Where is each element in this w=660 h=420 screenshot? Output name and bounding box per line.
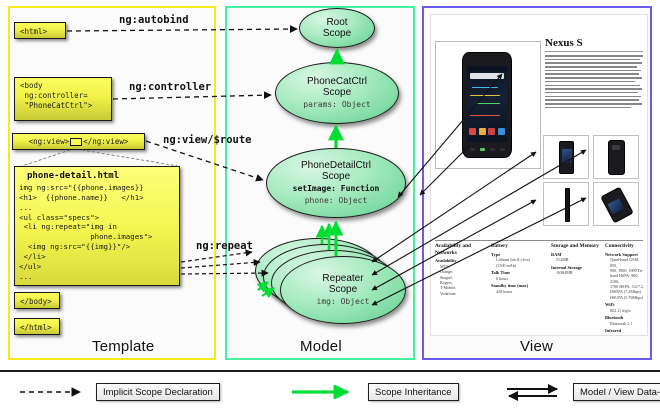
scope-rep-line1: Repeater [322, 273, 363, 284]
code-box-phone-detail: phone-detail.html img ng:src="{{phone.im… [14, 166, 180, 286]
legend-label-implicit-scope: Implicit Scope Declaration [96, 383, 220, 401]
legend-divider [0, 370, 660, 372]
code-box-body-close: </body> [14, 292, 60, 309]
spec-value: Quad-band GSM: 850, [605, 257, 647, 268]
scope-root-line2: Scope [323, 28, 351, 39]
thumb-screen [562, 149, 572, 163]
view-rendered-page: Nexus S [430, 14, 648, 336]
spec-header: Battery [491, 243, 547, 250]
thumb-camera [612, 145, 620, 150]
spec-value: HSUPA (5.76Mbps) [605, 295, 647, 300]
spec-value: (1500 mAh) [491, 263, 547, 268]
diagram-canvas: <html> <body ng:controller= "PhoneCatCtr… [0, 0, 660, 420]
spec-value: Bluetooth 2.1 [605, 321, 647, 326]
spec-column-connectivity: Connectivity Network Support Quad-band G… [605, 243, 647, 336]
spec-column-battery: Battery Type Lithium Ion (Li-Ion) (1500 … [491, 243, 547, 294]
scope-detail-member-phone: phone: Object [305, 196, 368, 206]
hero-image-frame [435, 41, 541, 169]
panel-label-template: Template [92, 338, 154, 355]
nav-button [480, 148, 485, 151]
thumb-phone-body [559, 141, 574, 174]
scope-phonedetailctrl: PhoneDetailCtrl Scope setImage: Function… [266, 148, 406, 218]
scope-detail-line2: Scope [322, 171, 350, 182]
legend-label-data-binding: Model / View Data-binding [573, 383, 660, 401]
phone-wallpaper-wave [470, 115, 500, 116]
spec-value: 16384MB [551, 270, 603, 275]
legend: Implicit Scope Declaration Scope Inherit… [0, 378, 660, 420]
dock-icon [469, 128, 476, 135]
viewport-glyph-icon [70, 138, 82, 146]
legend-item-scope-inheritance: Scope Inheritance [290, 382, 459, 402]
connector-label-repeat: ng:repeat [196, 240, 253, 252]
spec-column-availability: Availability and Networks Availability M… [435, 243, 487, 296]
scope-detail-member-setimage: setImage: Function [293, 184, 380, 194]
spec-value: 512MB [551, 257, 603, 262]
scope-root-line1: Root [326, 17, 347, 28]
panel-label-model: Model [300, 338, 342, 355]
phone-nav-buttons [467, 145, 507, 154]
phone-wallpaper-wave [476, 103, 500, 104]
panel-label-view: View [520, 338, 553, 355]
thumb-phone-body [565, 188, 570, 222]
legend-item-implicit-scope: Implicit Scope Declaration [18, 382, 220, 402]
scope-repeater: Repeater Scope img: Object [280, 256, 406, 324]
legend-icon-dashed-arrow [18, 385, 90, 399]
ngview-open-tag: <ng:view> [29, 137, 70, 147]
view-page-title: Nexus S [545, 37, 583, 49]
thumb-screen [608, 198, 625, 214]
scope-cat-line1: PhoneCatCtrl [307, 76, 367, 87]
ngview-close-tag: </ng:view> [83, 137, 128, 147]
nav-button [470, 148, 475, 151]
phone-hero-image [462, 52, 512, 158]
thumbnail-phone-side[interactable] [543, 182, 589, 226]
spec-column-storage: Storage and Memory RAM 512MB Internal St… [551, 243, 603, 276]
spec-header: Storage and Memory [551, 243, 603, 250]
connector-label-route: ng:view/$route [163, 134, 252, 146]
scope-rep-member-img: img: Object [317, 297, 370, 307]
code-box-html-close: </html> [14, 318, 60, 335]
thumbnail-phone-angled[interactable] [593, 182, 639, 226]
thumbnail-phone-back[interactable] [593, 135, 639, 179]
scope-cat-member-params: params: Object [303, 100, 370, 110]
spec-value: HSDPA (7.2Mbps) [605, 289, 647, 294]
legend-item-data-binding: Model / View Data-binding [505, 382, 660, 402]
spec-header: Availability and Networks [435, 243, 487, 256]
spec-value: 6 hours [491, 276, 547, 281]
legend-label-scope-inheritance: Scope Inheritance [368, 383, 459, 401]
thumbnail-phone-front[interactable] [543, 135, 589, 179]
spec-value: 802.11 b/g/n [605, 308, 647, 313]
phone-wallpaper-wave [470, 95, 500, 96]
scope-phonecatctrl: PhoneCatCtrl Scope params: Object [275, 62, 399, 124]
thumb-phone-body [600, 187, 634, 224]
spec-value: false [605, 334, 647, 336]
connector-label-controller: ng:controller [129, 81, 211, 93]
scope-cat-line2: Scope [323, 87, 351, 98]
spec-header: Connectivity [605, 243, 647, 250]
spec-value: band HSPA: 900, 2100, [605, 273, 647, 284]
phone-wallpaper-wave [472, 87, 498, 88]
nav-button [500, 148, 505, 151]
spec-value: 428 hours [491, 289, 547, 294]
code-box-body-open: <body ng:controller= "PhoneCatCtrl"> [14, 77, 112, 121]
phone-statusbar [468, 67, 506, 70]
scope-rep-line2: Scope [329, 284, 357, 295]
scope-root: Root Scope [299, 8, 375, 48]
dock-icon [479, 128, 486, 135]
connector-label-autobind: ng:autobind [119, 14, 189, 26]
legend-icon-double-arrow [505, 383, 567, 401]
detail-filename: phone-detail.html [19, 169, 175, 183]
spec-table-divider [435, 240, 643, 241]
phone-searchbar [470, 73, 504, 79]
code-box-html-open: <html> [14, 22, 66, 39]
nav-button [490, 148, 495, 151]
code-box-ng-view: <ng:view></ng:view> [12, 133, 145, 150]
spec-value: Vodafone [435, 291, 487, 296]
dock-icon [488, 128, 495, 135]
dock-icon [498, 128, 505, 135]
scope-detail-line1: PhoneDetailCtrl [301, 160, 371, 171]
phone-app-dock [468, 126, 506, 137]
view-title-divider [545, 51, 643, 52]
legend-icon-green-arrow [290, 385, 362, 399]
thumb-phone-body [608, 140, 625, 175]
view-description-text [545, 55, 643, 110]
detail-code: img ng:src="{{phone.images}} <h1> {{phon… [19, 183, 175, 281]
